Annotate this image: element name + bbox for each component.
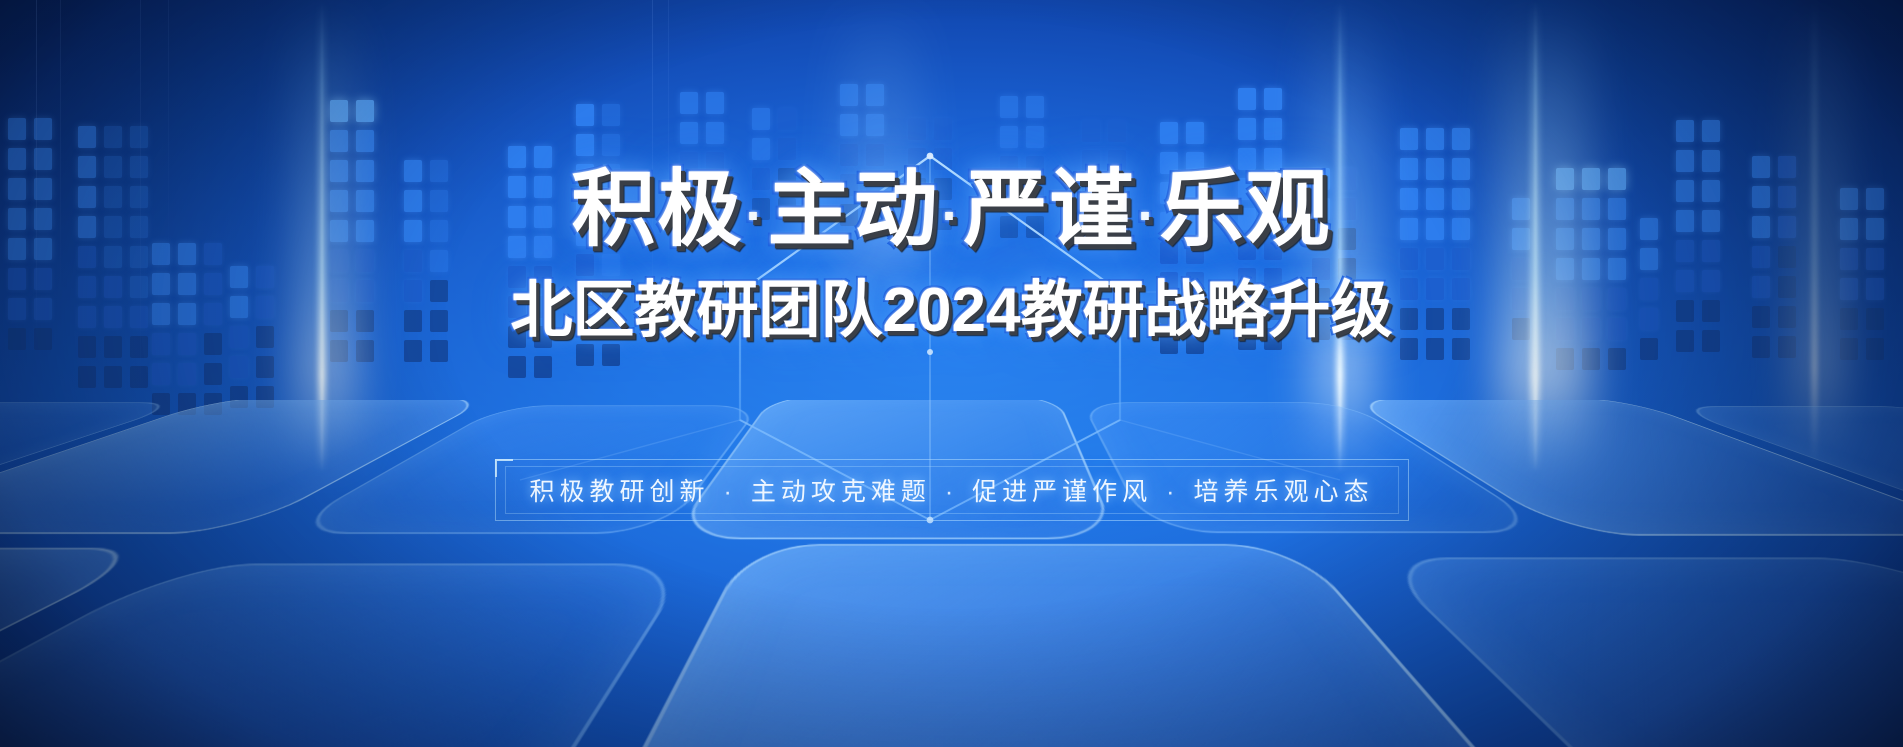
promo-banner: 积极·主动·严谨·乐观 北区教研团队2024教研战略升级 积极教研创新·主动攻克… bbox=[0, 0, 1903, 747]
tagline-container: 积极教研创新·主动攻克难题·促进严谨作风·培养乐观心态 bbox=[494, 459, 1408, 521]
subtitle: 北区教研团队2024教研战略升级 bbox=[511, 259, 1393, 349]
tagline-separator: · bbox=[931, 478, 972, 506]
title-separator: · bbox=[940, 186, 964, 246]
title-word-3: 严谨 bbox=[963, 162, 1135, 256]
tagline-item-3: 促进严谨作风 bbox=[972, 478, 1152, 506]
headline-group: 积极·主动·严谨·乐观 北区教研团队2024教研战略升级 bbox=[0, 0, 1903, 747]
tagline-separator: · bbox=[709, 478, 750, 506]
title-separator: · bbox=[744, 186, 768, 246]
title-word-1: 积极 bbox=[571, 162, 743, 256]
tagline-item-2: 主动攻克难题 bbox=[751, 478, 931, 506]
tagline-item-4: 培养乐观心态 bbox=[1194, 478, 1374, 506]
title-word-4: 乐观 bbox=[1159, 162, 1331, 256]
title-separator: · bbox=[1136, 186, 1160, 246]
tagline-frame: 积极教研创新·主动攻克难题·促进严谨作风·培养乐观心态 bbox=[494, 459, 1408, 521]
tagline-item-1: 积极教研创新 bbox=[529, 478, 709, 506]
main-title: 积极·主动·严谨·乐观 bbox=[571, 166, 1331, 253]
tagline-separator: · bbox=[1152, 478, 1193, 506]
title-word-2: 主动 bbox=[767, 162, 939, 256]
tagline-text: 积极教研创新·主动攻克难题·促进严谨作风·培养乐观心态 bbox=[529, 472, 1373, 508]
